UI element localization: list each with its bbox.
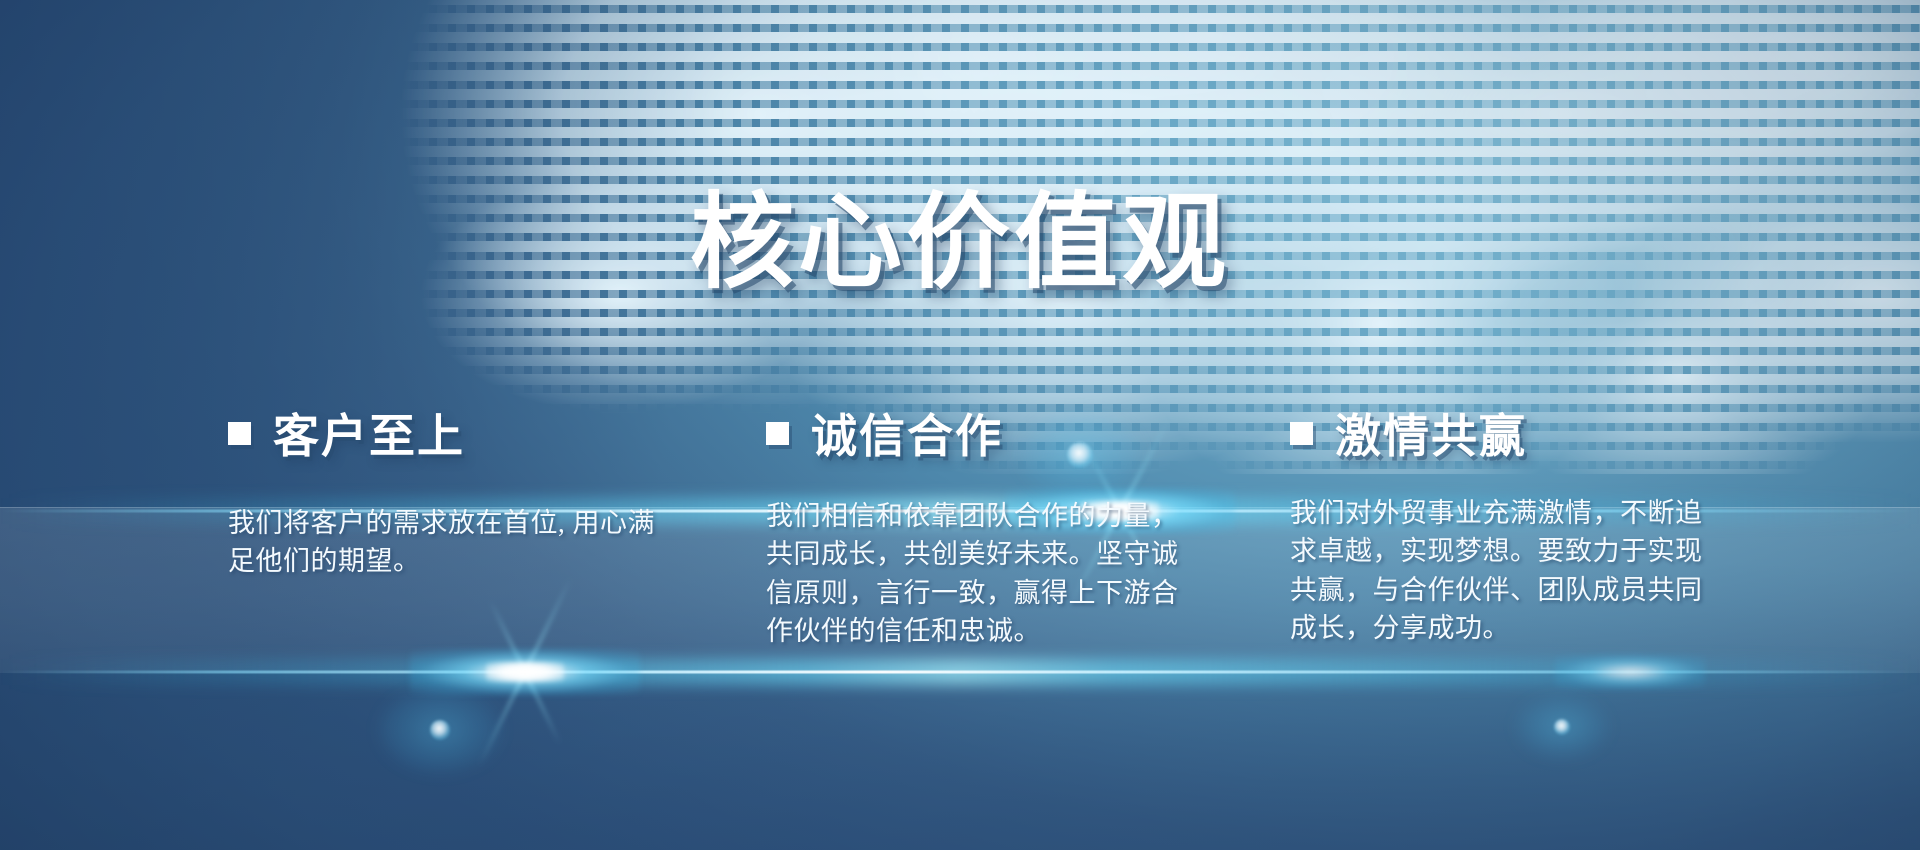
value-heading-text: 诚信合作: [811, 400, 1003, 466]
square-bullet-icon: [1290, 422, 1313, 445]
square-bullet-icon: [228, 422, 251, 445]
value-column-customer-first: 客户至上 我们将客户的需求放在首位, 用心满足他们的期望。: [228, 402, 658, 581]
square-bullet-icon: [766, 422, 789, 445]
value-heading: 客户至上: [228, 402, 658, 464]
value-heading-text: 激情共赢: [1335, 400, 1527, 466]
page-title: 核心价值观: [0, 192, 1920, 296]
value-column-passion-winwin: 激情共赢 我们对外贸事业充满激情，不断追求卓越，实现梦想。要致力于实现共赢，与合…: [1290, 402, 1710, 647]
value-body-text: 我们将客户的需求放在首位, 用心满足他们的期望。: [228, 504, 658, 581]
value-body-text: 我们相信和依靠团队合作的力量，共同成长，共创美好未来。坚守诚信原则，言行一致，赢…: [766, 497, 1186, 650]
banner-content: 核心价值观 客户至上 我们将客户的需求放在首位, 用心满足他们的期望。 诚信合作…: [0, 0, 1920, 850]
value-heading: 诚信合作: [766, 402, 1186, 464]
value-heading: 激情共赢: [1290, 402, 1710, 464]
value-body-text: 我们对外贸事业充满激情，不断追求卓越，实现梦想。要致力于实现共赢，与合作伙伴、团…: [1290, 494, 1710, 647]
core-values-banner: 核心价值观 客户至上 我们将客户的需求放在首位, 用心满足他们的期望。 诚信合作…: [0, 0, 1920, 850]
value-heading-text: 客户至上: [273, 400, 465, 466]
value-column-integrity-cooperation: 诚信合作 我们相信和依靠团队合作的力量，共同成长，共创美好未来。坚守诚信原则，言…: [766, 402, 1186, 650]
values-columns: 客户至上 我们将客户的需求放在首位, 用心满足他们的期望。 诚信合作 我们相信和…: [0, 402, 1920, 702]
